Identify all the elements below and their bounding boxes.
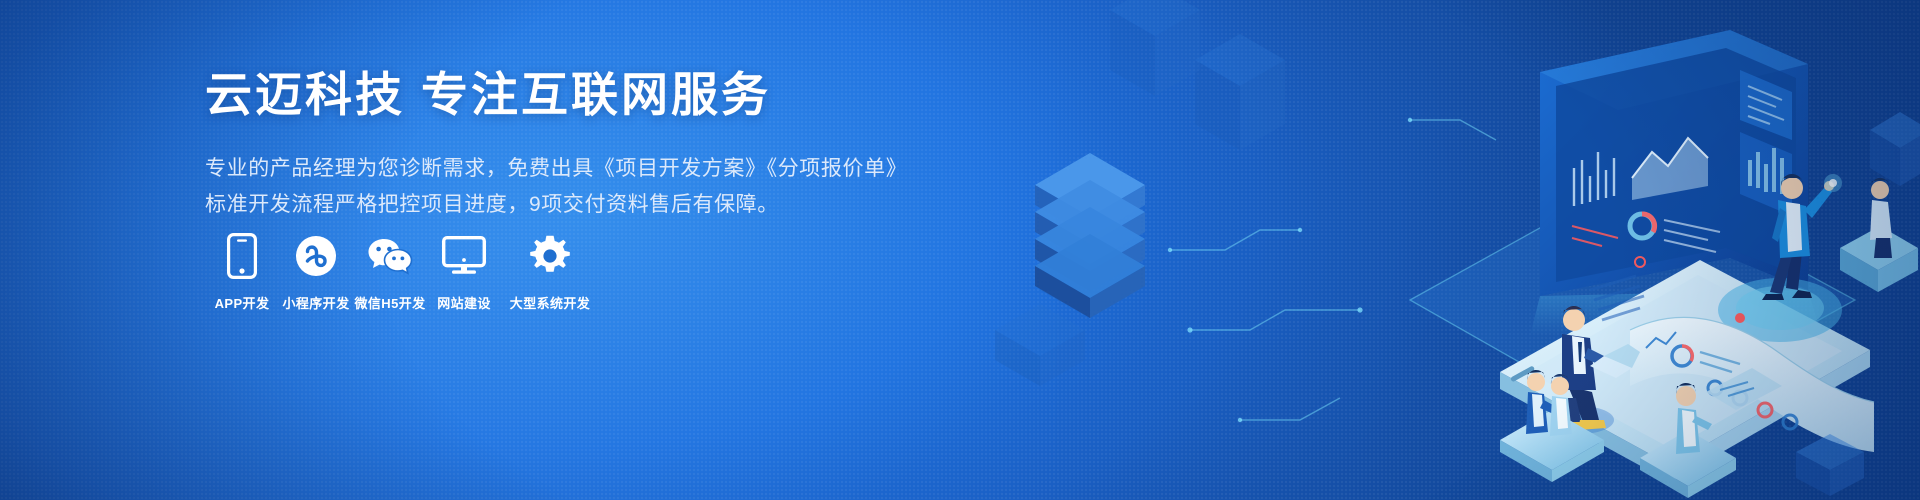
service-label: 网站建设 <box>437 293 491 312</box>
mini-program-icon <box>295 232 337 280</box>
banner-content: 云迈科技 专注互联网服务 专业的产品经理为您诊断需求，免费出具《项目开发方案》《… <box>205 66 965 223</box>
service-label: APP开发 <box>215 293 270 312</box>
service-item-miniprogram[interactable]: 小程序开发 <box>280 232 352 312</box>
banner-title: 云迈科技 专注互联网服务 <box>205 66 965 125</box>
service-item-website[interactable]: 网站建设 <box>428 232 500 312</box>
service-item-wechat-h5[interactable]: 微信H5开发 <box>354 232 426 312</box>
gear-icon <box>529 232 571 280</box>
service-item-large-system[interactable]: 大型系统开发 <box>502 232 598 312</box>
service-item-app[interactable]: APP开发 <box>206 232 278 312</box>
subtitle-line-1: 专业的产品经理为您诊断需求，免费出具《项目开发方案》《分项报价单》 <box>205 151 965 187</box>
desktop-monitor-icon <box>442 232 486 280</box>
service-label: 小程序开发 <box>282 293 349 312</box>
service-label: 大型系统开发 <box>510 293 590 312</box>
subtitle-line-2: 标准开发流程严格把控项目进度，9项交付资料售后有保障。 <box>205 187 965 223</box>
service-list: APP开发 小程序开发 微信 <box>206 232 600 312</box>
mobile-phone-icon <box>227 232 257 280</box>
service-label: 微信H5开发 <box>354 293 425 312</box>
wechat-icon <box>367 232 413 280</box>
banner-subtitle: 专业的产品经理为您诊断需求，免费出具《项目开发方案》《分项报价单》 标准开发流程… <box>205 151 965 223</box>
promo-banner: 云迈科技 专注互联网服务 专业的产品经理为您诊断需求，免费出具《项目开发方案》《… <box>0 0 1920 500</box>
